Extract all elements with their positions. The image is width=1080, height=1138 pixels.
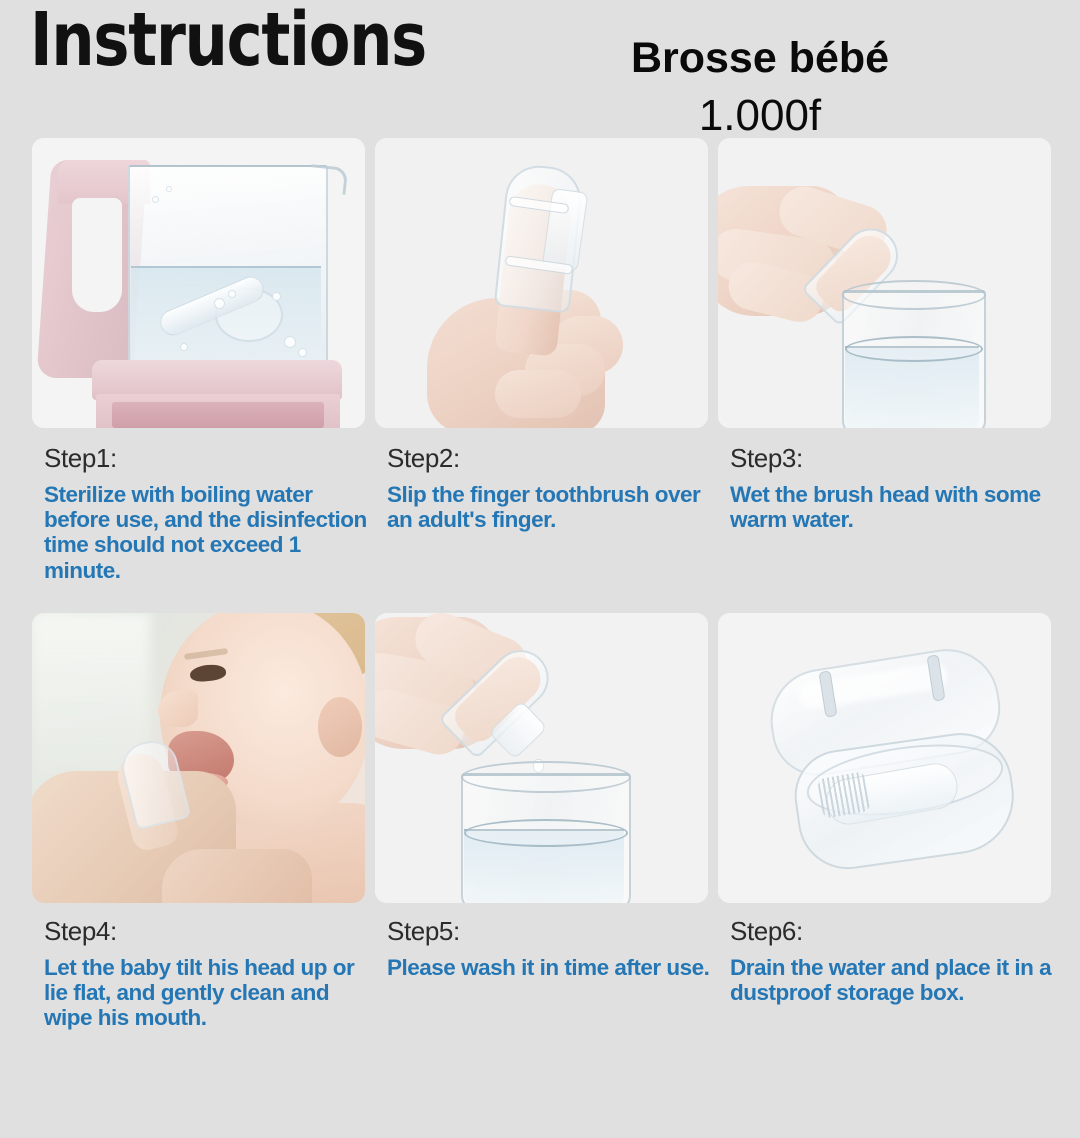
step-3-description: Wet the brush head with some warm water. [730, 482, 1055, 533]
step-4-text: Step4: Let the baby tilt his head up or … [32, 903, 369, 1031]
steps-grid: Step1: Sterilize with boiling water befo… [0, 138, 1080, 1088]
step-4-photo-card [32, 613, 365, 903]
step-5-text: Step5: Please wash it in time after use. [375, 903, 712, 980]
step-2-photo-card [375, 138, 708, 428]
overlay-product-caption: Brosse bébé 1.000f [560, 30, 960, 145]
step-6-label: Step6: [730, 917, 1055, 946]
step-3-label: Step3: [730, 444, 1055, 473]
step-2-label: Step2: [387, 444, 712, 473]
step-cell-3: Step3: Wet the brush head with some warm… [718, 138, 1054, 613]
step-5-photo-card [375, 613, 708, 903]
step-1-photo-card [32, 138, 365, 428]
finger-with-toothbrush-photo [375, 138, 708, 428]
pink-sterilizer-kettle-photo [32, 138, 365, 428]
step-cell-1: Step1: Sterilize with boiling water befo… [32, 138, 368, 613]
step-2-description: Slip the finger toothbrush over an adult… [387, 482, 712, 533]
step-6-description: Drain the water and place it in a dustpr… [730, 955, 1055, 1006]
step-3-text: Step3: Wet the brush head with some warm… [718, 428, 1055, 532]
step-1-text: Step1: Sterilize with boiling water befo… [32, 428, 369, 583]
baby-mouth-cleaning-photo [32, 613, 365, 903]
step-6-photo-card [718, 613, 1051, 903]
step-1-label: Step1: [44, 444, 369, 473]
page-header: Instructions Brosse bébé 1.000f [0, 0, 1080, 138]
step-cell-4: Step4: Let the baby tilt his head up or … [32, 613, 368, 1088]
overlay-product-price: 1.000f [560, 87, 960, 145]
finger-brush-dipping-glass-photo [718, 138, 1051, 428]
step-3-photo-card [718, 138, 1051, 428]
step-cell-5: Step5: Please wash it in time after use. [375, 613, 711, 1088]
step-6-text: Step6: Drain the water and place it in a… [718, 903, 1055, 1005]
step-2-text: Step2: Slip the finger toothbrush over a… [375, 428, 712, 532]
step-1-description: Sterilize with boiling water before use,… [44, 482, 369, 584]
step-cell-2: Step2: Slip the finger toothbrush over a… [375, 138, 711, 613]
page-title: Instructions [30, 2, 426, 80]
step-4-label: Step4: [44, 917, 369, 946]
washing-brush-over-glass-photo [375, 613, 708, 903]
step-5-label: Step5: [387, 917, 712, 946]
step-5-description: Please wash it in time after use. [387, 955, 712, 980]
step-cell-6: Step6: Drain the water and place it in a… [718, 613, 1054, 1088]
step-4-description: Let the baby tilt his head up or lie fla… [44, 955, 369, 1031]
overlay-product-name: Brosse bébé [631, 34, 889, 82]
clear-storage-case-photo [718, 613, 1051, 903]
